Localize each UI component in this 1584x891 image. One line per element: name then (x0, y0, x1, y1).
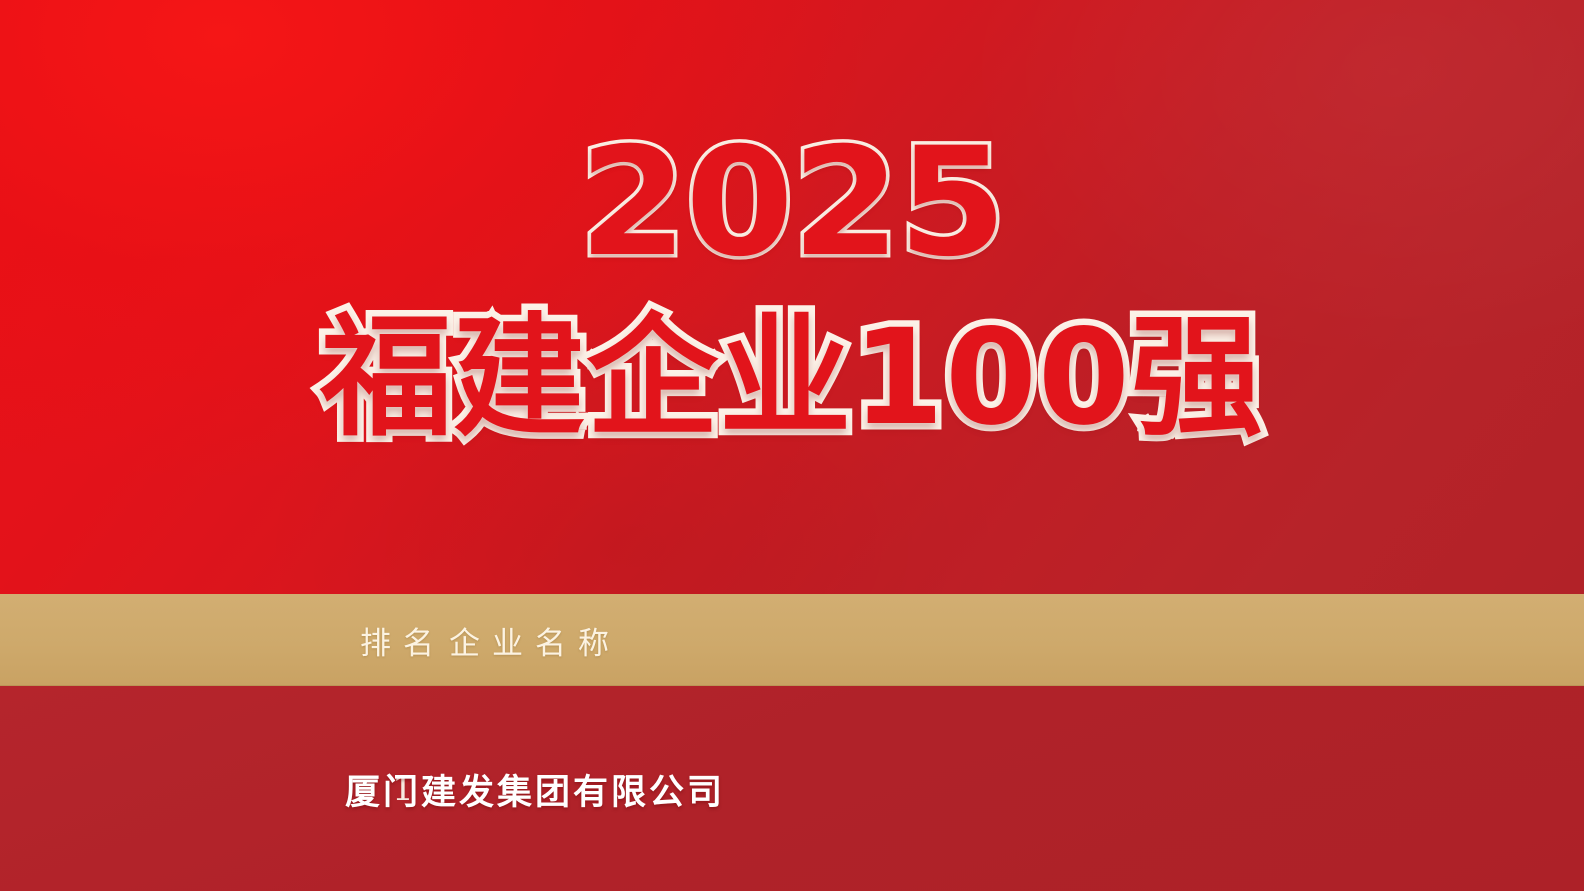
hero-gradient-sheen (0, 0, 1584, 594)
column-header-company-label: 企业名称 (449, 626, 621, 662)
table-row[interactable]: 1 厦门建发集团有限公司 (0, 762, 1584, 816)
table-header-row: 排名 企业名称 (0, 594, 1584, 686)
year-title-container: 2025 (0, 128, 1584, 278)
poster-canvas: 2025 福建企业100强 排名 企业名称 1 (0, 0, 1584, 891)
column-header-company: 企业名称 (806, 618, 1584, 663)
headline-container: 福建企业100强 (0, 312, 1584, 444)
headline-title: 福建企业100强 (320, 312, 1264, 444)
company-name-value: 厦门建发集团有限公司 (345, 773, 725, 813)
table-header-bar: 排名 企业名称 (0, 594, 1584, 686)
year-title: 2025 (579, 128, 1005, 278)
cell-company: 厦门建发集团有限公司 (806, 764, 1584, 815)
hero-banner: 2025 福建企业100强 (0, 0, 1584, 594)
ranking-table: 排名 企业名称 1 厦门建发集团有限公司 (0, 594, 1584, 891)
table-body: 1 厦门建发集团有限公司 (0, 686, 1584, 891)
